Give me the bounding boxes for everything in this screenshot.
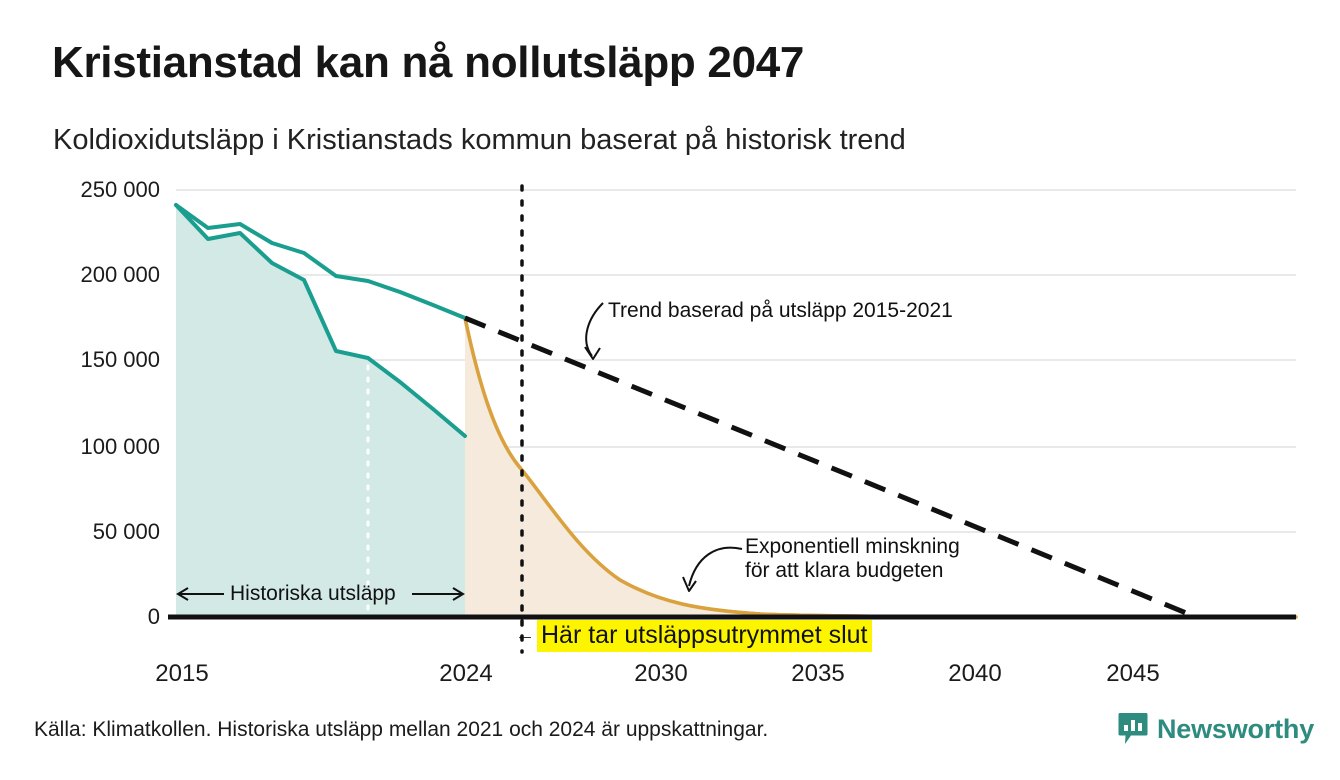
- y-tick-0: 0: [40, 604, 160, 630]
- y-axis-labels: 250 000 200 000 150 000 100 000 50 000 0: [40, 0, 160, 780]
- x-tick-2040: 2040: [948, 660, 1001, 688]
- logo-text: Newsworthy: [1157, 714, 1314, 745]
- newsworthy-logo[interactable]: Newsworthy: [1118, 712, 1314, 746]
- historic-line-tail: [176, 205, 465, 318]
- x-tick-2045: 2045: [1106, 660, 1159, 688]
- annotation-historic-span: Historiska utsläpp: [230, 582, 396, 606]
- x-tick-2035: 2035: [791, 660, 844, 688]
- chart-root: Kristianstad kan nå nollutsläpp 2047 Kol…: [0, 0, 1340, 780]
- x-tick-2015: 2015: [155, 660, 208, 688]
- page-title: Kristianstad kan nå nollutsläpp 2047: [52, 38, 804, 88]
- budget-area-fill: [465, 436, 1296, 617]
- y-tick-100000: 100 000: [40, 434, 160, 460]
- x-tick-2024: 2024: [439, 660, 492, 688]
- source-note: Källa: Klimatkollen. Historiska utsläpp …: [34, 718, 768, 742]
- trend-annotation-arrow: [585, 303, 603, 359]
- x-tick-2030: 2030: [634, 660, 687, 688]
- historic-area-fill-top: [176, 205, 465, 617]
- bar-chart-speech-bubble-icon: [1118, 712, 1148, 746]
- y-tick-200000: 200 000: [40, 262, 160, 288]
- exponential-annotation-arrow: [683, 548, 742, 591]
- y-tick-50000: 50 000: [40, 519, 160, 545]
- annotation-exponential: Exponentiell minskning för att klara bud…: [745, 535, 960, 583]
- y-tick-150000: 150 000: [40, 347, 160, 373]
- annotation-budget-end: Här tar utsläppsutrymmet slut: [537, 620, 872, 652]
- chart-subtitle: Koldioxidutsläpp i Kristianstads kommun …: [53, 124, 906, 157]
- annotation-trend: Trend baserad på utsläpp 2015-2021: [608, 299, 953, 323]
- y-tick-250000: 250 000: [40, 177, 160, 203]
- gridlines: [176, 190, 1296, 532]
- historic-area-fill: [176, 205, 465, 617]
- budget-end-arrow-icon: ←: [515, 624, 535, 647]
- historic-line: [176, 205, 465, 436]
- annotation-exponential-line2: för att klara budgeten: [745, 559, 960, 583]
- annotation-exponential-line1: Exponentiell minskning: [745, 535, 960, 559]
